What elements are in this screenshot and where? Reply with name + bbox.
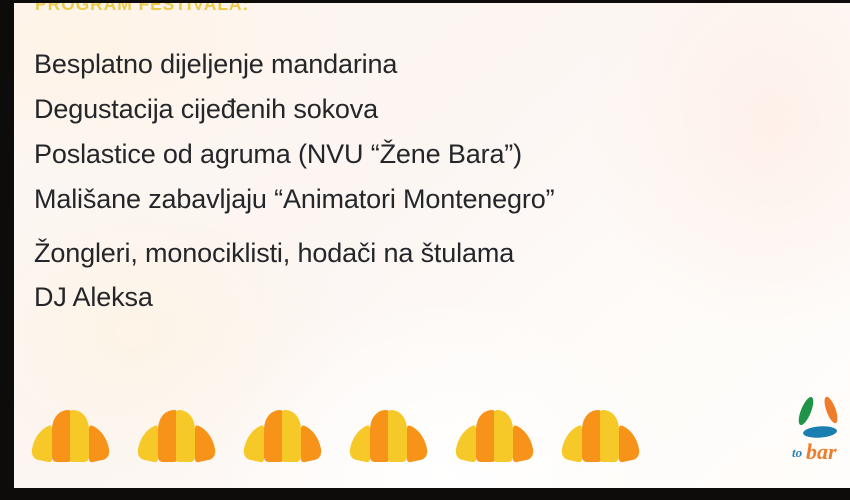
list-item: Degustacija cijeđenih sokova	[34, 96, 774, 123]
frame-bottom	[0, 488, 850, 500]
brand-name-small: to	[792, 445, 803, 460]
mandarin-segment-motif	[346, 404, 431, 466]
list-item: Žongleri, monociklisti, hodači na štulam…	[34, 240, 774, 267]
mandarin-segment-motif	[452, 404, 537, 466]
leaf-orange-icon	[822, 395, 840, 424]
frame-top	[0, 0, 850, 3]
leaf-blue-icon	[803, 425, 838, 439]
poster-card: PROGRAM FESTIVALA: Besplatno dijeljenje …	[14, 3, 850, 488]
list-item: Mališane zabavljaju “Animatori Montenegr…	[34, 186, 774, 213]
festival-program-poster: PROGRAM FESTIVALA: Besplatno dijeljenje …	[0, 0, 850, 500]
list-item: DJ Aleksa	[34, 284, 774, 311]
list-item: Besplatno dijeljenje mandarina	[34, 51, 774, 78]
mandarin-segment-motif	[28, 404, 113, 466]
mandarin-segment-motif	[134, 404, 219, 466]
list-item: Poslastice od agruma (NVU “Žene Bara”)	[34, 141, 774, 168]
mandarin-segment-motif	[558, 404, 643, 466]
program-list: Besplatno dijeljenje mandarina Degustaci…	[34, 51, 774, 311]
tobar-logo: to bar	[786, 391, 850, 471]
brand-name-bold: bar	[806, 439, 837, 464]
frame-left	[0, 0, 14, 500]
mandarin-segment-decoration-row	[28, 396, 668, 466]
leaf-green-icon	[796, 395, 817, 427]
tobar-logo-graphic: to bar	[786, 391, 850, 471]
page-title: PROGRAM FESTIVALA:	[35, 3, 249, 15]
mandarin-segment-motif	[240, 404, 325, 466]
